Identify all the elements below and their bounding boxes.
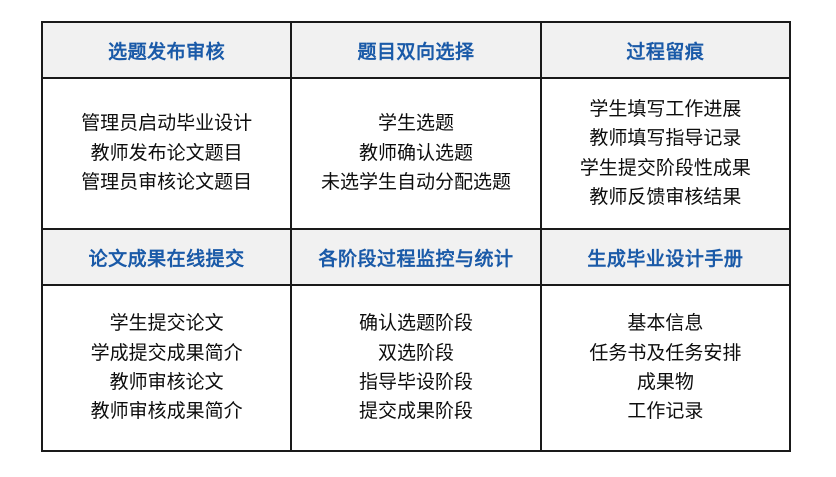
body-cell-lines: 确认选题阶段 双选阶段 指导毕设阶段 提交成果阶段 <box>298 309 533 427</box>
list-item: 学成提交成果简介 <box>49 339 284 368</box>
list-item: 管理员启动毕业设计 <box>49 109 284 138</box>
body-cell-process-trace: 学生填写工作进展 教师填写指导记录 学生提交阶段性成果 教师反馈审核结果 <box>540 79 789 228</box>
header-cell-two-way-topic-selection[interactable]: 题目双向选择 <box>290 23 539 77</box>
body-cell-topic-release-review: 管理员启动毕业设计 教师发布论文题目 管理员审核论文题目 <box>43 79 290 228</box>
body-cell-lines: 基本信息 任务书及任务安排 成果物 工作记录 <box>548 309 783 427</box>
list-item: 学生提交阶段性成果 <box>548 154 783 183</box>
list-item: 工作记录 <box>548 397 783 426</box>
list-item: 教师确认选题 <box>298 139 533 168</box>
header-cell-process-trace[interactable]: 过程留痕 <box>540 23 789 77</box>
body-row-1: 管理员启动毕业设计 教师发布论文题目 管理员审核论文题目 学生选题 教师确认选题… <box>43 79 789 230</box>
list-item: 确认选题阶段 <box>298 309 533 338</box>
list-item: 任务书及任务安排 <box>548 339 783 368</box>
body-cell-lines: 管理员启动毕业设计 教师发布论文题目 管理员审核论文题目 <box>49 109 284 197</box>
list-item: 教师审核成果简介 <box>49 397 284 426</box>
body-cell-lines: 学生填写工作进展 教师填写指导记录 学生提交阶段性成果 教师反馈审核结果 <box>548 95 783 213</box>
body-cell-generate-graduation-manual: 基本信息 任务书及任务安排 成果物 工作记录 <box>540 286 789 450</box>
body-cell-lines: 学生选题 教师确认选题 未选学生自动分配选题 <box>298 109 533 197</box>
list-item: 学生填写工作进展 <box>548 95 783 124</box>
body-cell-online-thesis-submission: 学生提交论文 学成提交成果简介 教师审核论文 教师审核成果简介 <box>43 286 290 450</box>
list-item: 教师审核论文 <box>49 368 284 397</box>
list-item: 学生提交论文 <box>49 309 284 338</box>
list-item: 基本信息 <box>548 309 783 338</box>
list-item: 提交成果阶段 <box>298 397 533 426</box>
list-item: 未选学生自动分配选题 <box>298 168 533 197</box>
body-row-2: 学生提交论文 学成提交成果简介 教师审核论文 教师审核成果简介 确认选题阶段 双… <box>43 286 789 450</box>
body-cell-two-way-topic-selection: 学生选题 教师确认选题 未选学生自动分配选题 <box>290 79 539 228</box>
header-cell-online-thesis-submission[interactable]: 论文成果在线提交 <box>43 230 290 284</box>
list-item: 教师填写指导记录 <box>548 124 783 153</box>
list-item: 双选阶段 <box>298 339 533 368</box>
list-item: 教师发布论文题目 <box>49 139 284 168</box>
header-cell-generate-graduation-manual[interactable]: 生成毕业设计手册 <box>540 230 789 284</box>
list-item: 学生选题 <box>298 109 533 138</box>
matrix-block-2: 论文成果在线提交 各阶段过程监控与统计 生成毕业设计手册 学生提交论文 学成提交… <box>43 230 789 450</box>
matrix-block-1: 选题发布审核 题目双向选择 过程留痕 管理员启动毕业设计 教师发布论文题目 管理… <box>43 23 789 230</box>
list-item: 指导毕设阶段 <box>298 368 533 397</box>
body-cell-stage-monitoring-statistics: 确认选题阶段 双选阶段 指导毕设阶段 提交成果阶段 <box>290 286 539 450</box>
header-cell-stage-monitoring-statistics[interactable]: 各阶段过程监控与统计 <box>290 230 539 284</box>
list-item: 管理员审核论文题目 <box>49 168 284 197</box>
feature-matrix-table: 选题发布审核 题目双向选择 过程留痕 管理员启动毕业设计 教师发布论文题目 管理… <box>41 21 791 452</box>
header-row-2: 论文成果在线提交 各阶段过程监控与统计 生成毕业设计手册 <box>43 230 789 286</box>
header-cell-topic-release-review[interactable]: 选题发布审核 <box>43 23 290 77</box>
list-item: 成果物 <box>548 368 783 397</box>
list-item: 教师反馈审核结果 <box>548 183 783 212</box>
page-root: 选题发布审核 题目双向选择 过程留痕 管理员启动毕业设计 教师发布论文题目 管理… <box>0 0 836 477</box>
header-row-1: 选题发布审核 题目双向选择 过程留痕 <box>43 23 789 79</box>
body-cell-lines: 学生提交论文 学成提交成果简介 教师审核论文 教师审核成果简介 <box>49 309 284 427</box>
